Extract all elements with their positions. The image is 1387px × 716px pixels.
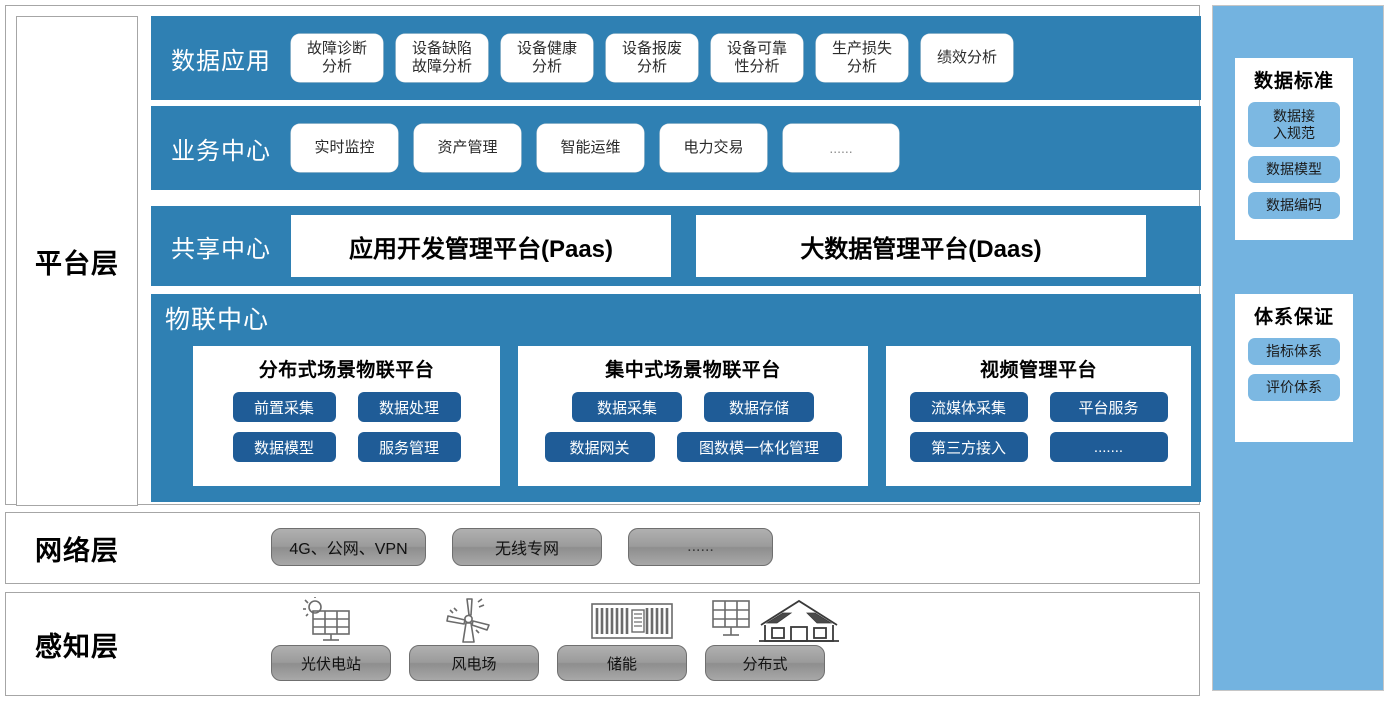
chip-business-center-more[interactable]: ...... <box>783 124 899 172</box>
network-layer-container: 网络层 4G、公网、VPN 无线专网 ...... <box>5 512 1200 584</box>
row-iot-center: 物联中心 分布式场景物联平台 前置采集 数据处理 数据模型 服务管理 集中式场景… <box>151 294 1201 502</box>
chip-data-encoding[interactable]: 数据编码 <box>1248 192 1340 219</box>
card-title-data-standard: 数据标准 <box>1254 66 1334 93</box>
chip-wireless-private-network[interactable]: 无线专网 <box>452 528 602 566</box>
chip-distributed[interactable]: 分布式 <box>705 645 825 681</box>
chip-4g-public-network-vpn[interactable]: 4G、公网、VPN <box>271 528 426 566</box>
right-sidebar: 数据标准 数据接 入规范 数据模型 数据编码 体系保证 指标体系 评价体系 <box>1212 5 1384 691</box>
card-data-standard[interactable]: 数据标准 数据接 入规范 数据模型 数据编码 <box>1235 58 1353 240</box>
row-business-center: 业务中心 实时监控 资产管理 智能运维 电力交易 ...... <box>151 106 1201 190</box>
chip-intelligent-operations[interactable]: 智能运维 <box>537 124 644 172</box>
chip-streaming-media-acquisition[interactable]: 流媒体采集 <box>910 392 1028 422</box>
chip-indicator-system[interactable]: 指标体系 <box>1248 338 1340 365</box>
solar-panel-sun-icon <box>291 597 361 650</box>
chip-equipment-reliability-analysis[interactable]: 设备可靠 性分析 <box>711 34 803 82</box>
chip-graph-data-model-integrated-management[interactable]: 图数模一体化管理 <box>677 432 842 462</box>
chip-wind-farm[interactable]: 风电场 <box>409 645 539 681</box>
perception-layer-label-cell: 感知层 <box>6 593 148 695</box>
card-video-management-platform[interactable]: 视频管理平台 流媒体采集 平台服务 第三方接入 ....... <box>886 346 1191 486</box>
chip-data-storage[interactable]: 数据存储 <box>704 392 814 422</box>
chip-photovoltaic-power-station[interactable]: 光伏电站 <box>271 645 391 681</box>
card-daas-platform[interactable]: 大数据管理平台(Daas) <box>696 215 1146 277</box>
row-title-data-application: 数据应用 <box>151 41 291 76</box>
chip-group-centralized-scene: 数据采集 数据存储 数据网关 图数模一体化管理 <box>518 392 868 462</box>
chip-data-access-specification[interactable]: 数据接 入规范 <box>1248 102 1340 147</box>
platform-layer-container: 平台层 数据应用 故障诊断 分析 设备缺陷 故障分析 设备健康 分析 设备报废 … <box>5 5 1200 505</box>
iot-platform-cards: 分布式场景物联平台 前置采集 数据处理 数据模型 服务管理 集中式场景物联平台 … <box>193 346 1173 486</box>
distributed-solar-house-icon <box>711 597 846 650</box>
chip-realtime-monitoring[interactable]: 实时监控 <box>291 124 398 172</box>
network-chip-group: 4G、公网、VPN 无线专网 ...... <box>271 528 773 566</box>
chip-third-party-access[interactable]: 第三方接入 <box>910 432 1028 462</box>
chip-front-end-acquisition[interactable]: 前置采集 <box>233 392 336 422</box>
perception-icon-group <box>271 597 891 645</box>
chip-group-video-management: 流媒体采集 平台服务 第三方接入 ....... <box>886 392 1191 462</box>
chip-production-loss-analysis[interactable]: 生产损失 分析 <box>816 34 908 82</box>
perception-layer-label: 感知层 <box>35 625 119 664</box>
battery-storage-icon <box>591 601 673 646</box>
chip-sidebar-data-model[interactable]: 数据模型 <box>1248 156 1340 183</box>
card-title-centralized-scene: 集中式场景物联平台 <box>605 355 781 382</box>
chip-data-gateway[interactable]: 数据网关 <box>545 432 655 462</box>
row-shared-center: 共享中心 应用开发管理平台(Paas) 大数据管理平台(Daas) <box>151 206 1201 286</box>
chip-equipment-defect-fault-analysis[interactable]: 设备缺陷 故障分析 <box>396 34 488 82</box>
card-distributed-scene-iot-platform[interactable]: 分布式场景物联平台 前置采集 数据处理 数据模型 服务管理 <box>193 346 500 486</box>
chip-service-management[interactable]: 服务管理 <box>358 432 461 462</box>
platform-layer-label: 平台层 <box>35 242 119 281</box>
chip-group-distributed-scene: 前置采集 数据处理 数据模型 服务管理 <box>193 392 500 462</box>
chip-equipment-scrap-analysis[interactable]: 设备报废 分析 <box>606 34 698 82</box>
chip-energy-storage[interactable]: 储能 <box>557 645 687 681</box>
platform-layer-label-cell: 平台层 <box>16 16 138 506</box>
row-data-application: 数据应用 故障诊断 分析 设备缺陷 故障分析 设备健康 分析 设备报废 分析 设… <box>151 16 1201 100</box>
row-title-business-center: 业务中心 <box>151 131 291 166</box>
chip-network-more[interactable]: ...... <box>628 528 773 566</box>
wind-turbine-icon <box>436 597 500 650</box>
network-layer-label-cell: 网络层 <box>6 513 148 583</box>
row-title-iot-center: 物联中心 <box>151 294 1201 336</box>
chip-asset-management[interactable]: 资产管理 <box>414 124 521 172</box>
row-title-shared-center: 共享中心 <box>151 229 291 264</box>
card-paas-platform[interactable]: 应用开发管理平台(Paas) <box>291 215 671 277</box>
chip-evaluation-system[interactable]: 评价体系 <box>1248 374 1340 401</box>
card-title-system-guarantee: 体系保证 <box>1254 302 1334 329</box>
chip-power-trading[interactable]: 电力交易 <box>660 124 767 172</box>
chip-data-processing[interactable]: 数据处理 <box>358 392 461 422</box>
chip-video-platform-more[interactable]: ....... <box>1050 432 1168 462</box>
chip-equipment-health-analysis[interactable]: 设备健康 分析 <box>501 34 593 82</box>
chip-data-model[interactable]: 数据模型 <box>233 432 336 462</box>
perception-layer-container: 感知层 <box>5 592 1200 696</box>
perception-chip-group: 光伏电站 风电场 储能 分布式 <box>271 645 825 681</box>
chip-data-acquisition[interactable]: 数据采集 <box>572 392 682 422</box>
chip-platform-service[interactable]: 平台服务 <box>1050 392 1168 422</box>
card-system-guarantee[interactable]: 体系保证 指标体系 评价体系 <box>1235 294 1353 442</box>
card-centralized-scene-iot-platform[interactable]: 集中式场景物联平台 数据采集 数据存储 数据网关 图数模一体化管理 <box>518 346 868 486</box>
chip-fault-diagnosis-analysis[interactable]: 故障诊断 分析 <box>291 34 383 82</box>
chip-performance-analysis[interactable]: 绩效分析 <box>921 34 1013 82</box>
network-layer-label: 网络层 <box>35 529 119 568</box>
card-title-distributed-scene: 分布式场景物联平台 <box>259 355 435 382</box>
card-title-video-management: 视频管理平台 <box>980 355 1097 382</box>
